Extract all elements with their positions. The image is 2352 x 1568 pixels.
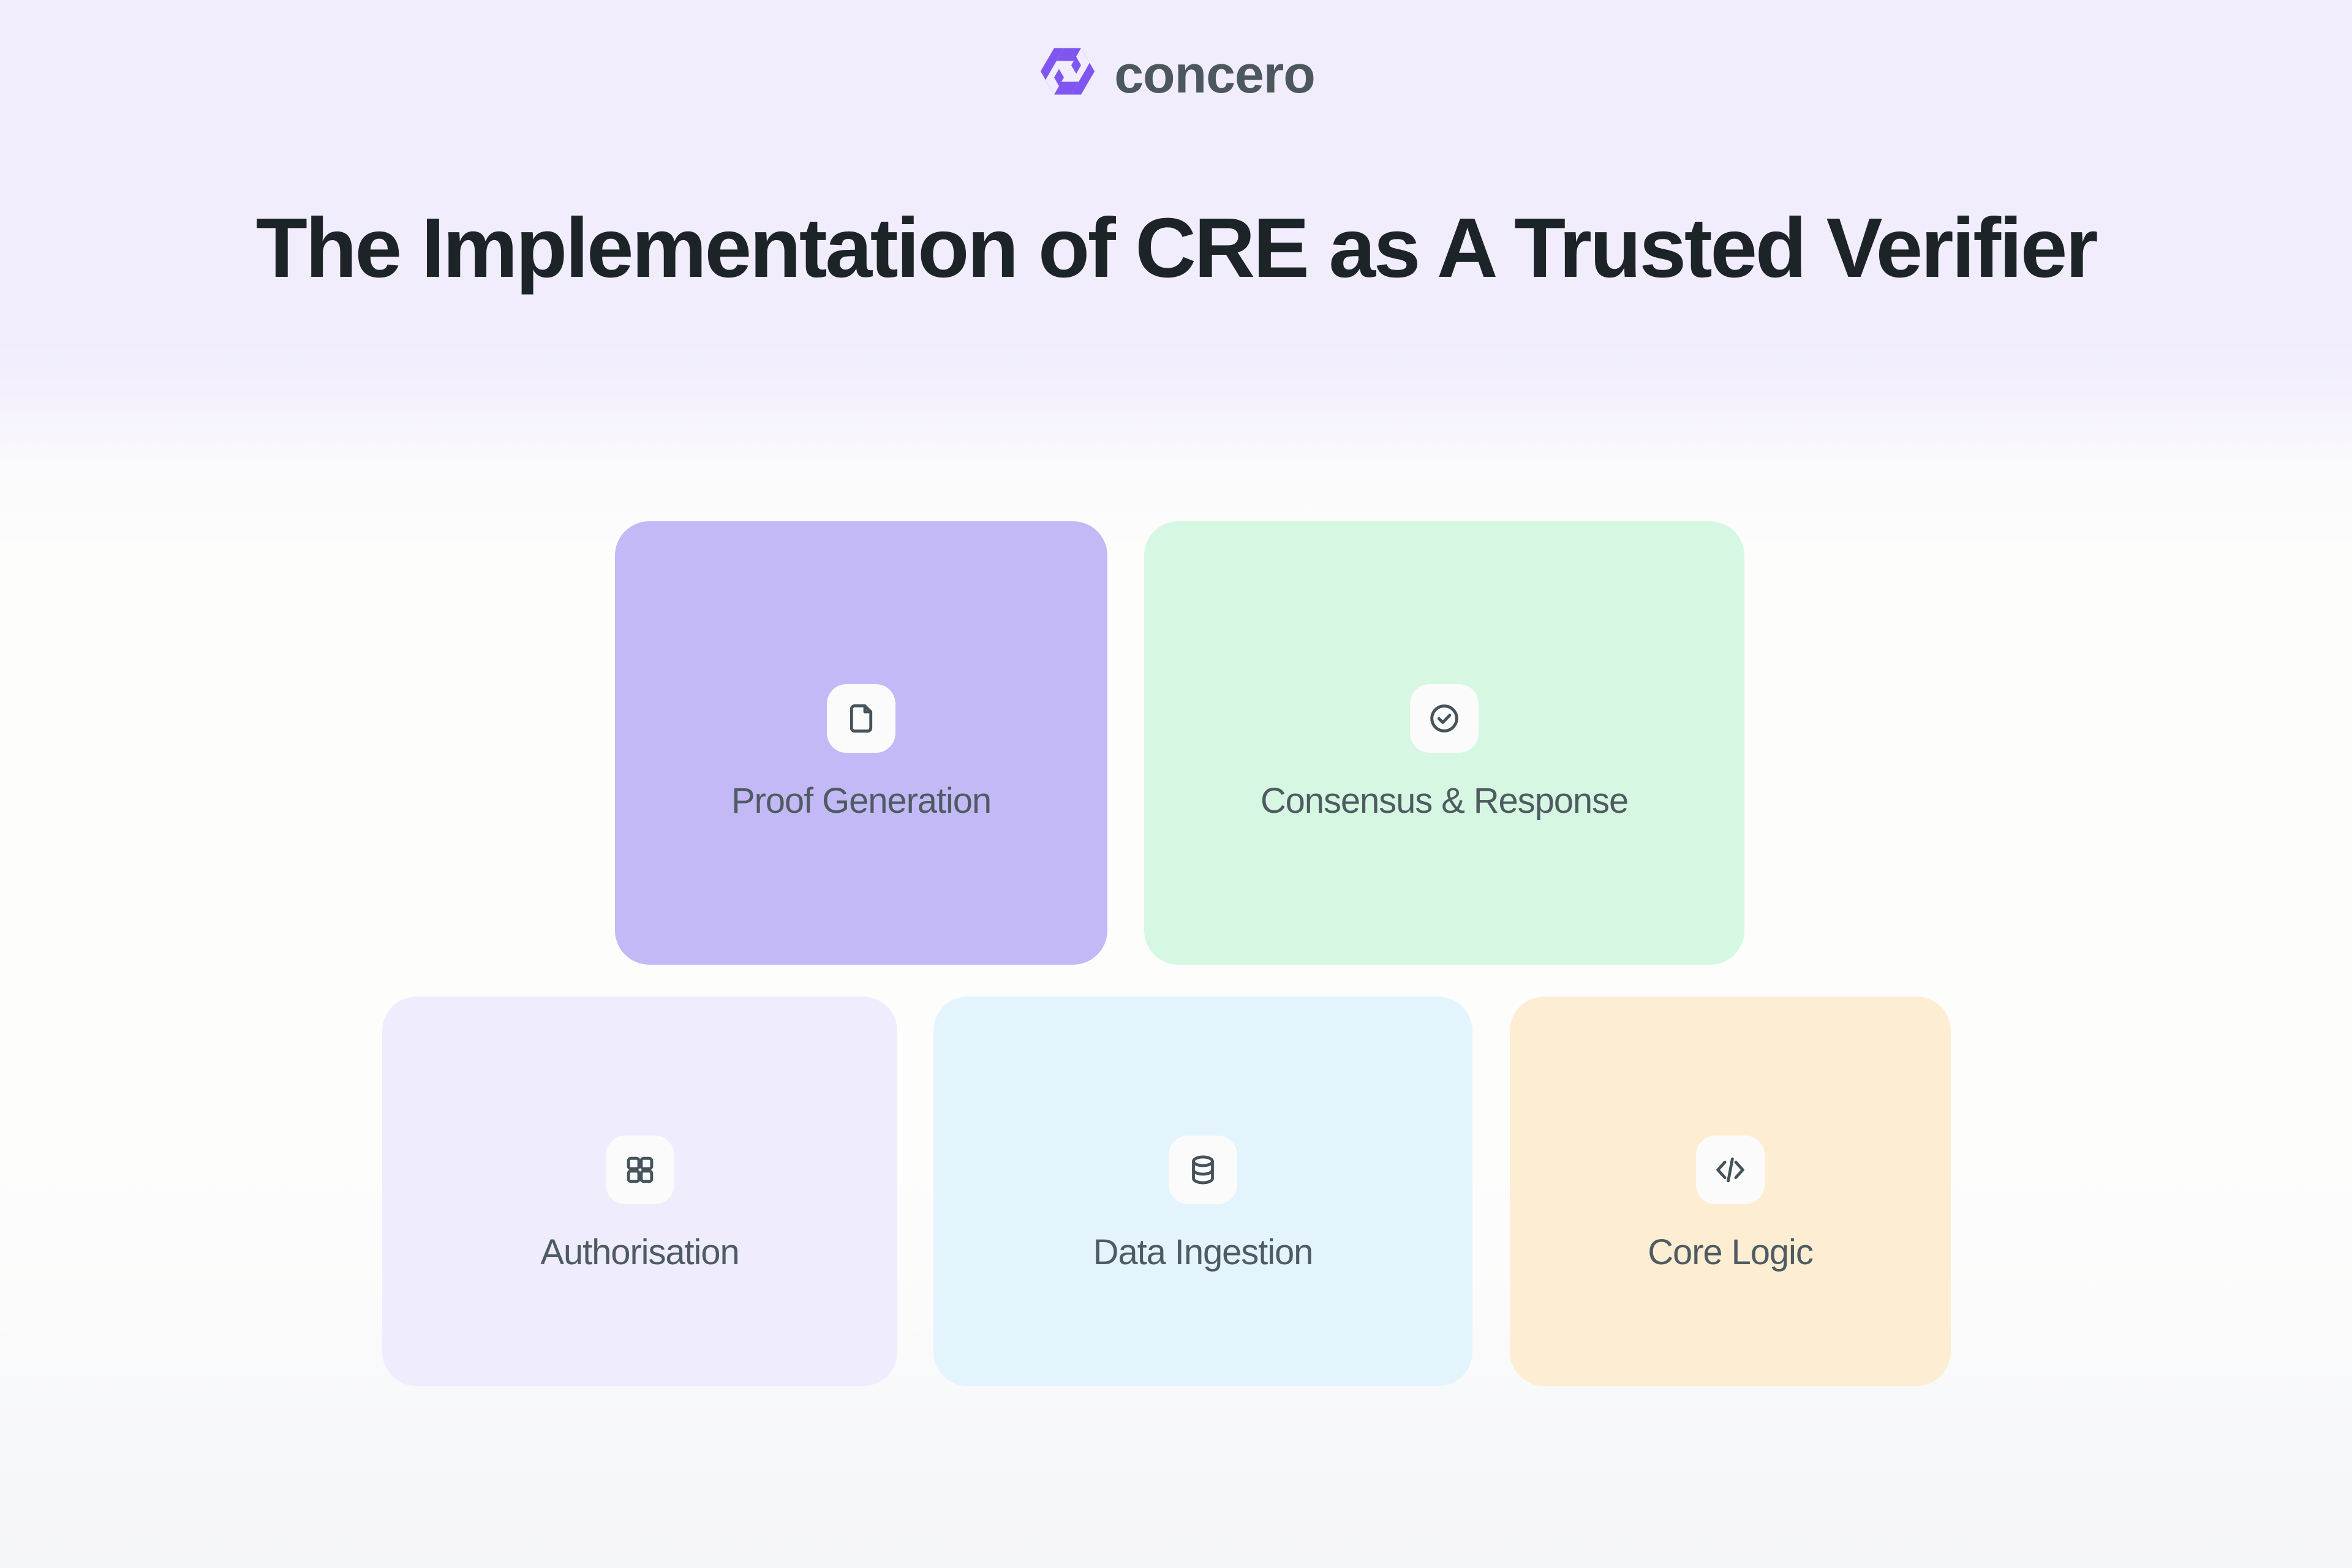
diagram-card-authorisation[interactable]: Authorisation [382, 997, 897, 1386]
concero-hex-logo-icon [1037, 44, 1098, 105]
brand-wordmark: concero [1114, 48, 1315, 101]
diagram-card-proof-generation[interactable]: Proof Generation [615, 521, 1107, 965]
page-title: The Implementation of CRE as A Trusted V… [0, 202, 2352, 295]
card-label-data-ingestion: Data Ingestion [1093, 1232, 1313, 1273]
database-icon [1169, 1136, 1237, 1204]
diagram-card-data-ingestion[interactable]: Data Ingestion [933, 997, 1472, 1386]
file-icon [827, 684, 895, 753]
diagram-card-consensus-response[interactable]: Consensus & Response [1144, 521, 1744, 965]
card-label-consensus-response: Consensus & Response [1261, 781, 1628, 822]
card-label-authorisation: Authorisation [540, 1232, 739, 1273]
layout-grid-icon [606, 1136, 674, 1204]
card-label-core-logic: Core Logic [1648, 1232, 1813, 1273]
diagram-card-core-logic[interactable]: Core Logic [1510, 997, 1951, 1386]
brand-logo[interactable]: concero [0, 38, 2352, 111]
code-icon [1696, 1136, 1765, 1204]
check-circle-icon [1410, 684, 1479, 753]
card-label-proof-generation: Proof Generation [731, 781, 991, 822]
